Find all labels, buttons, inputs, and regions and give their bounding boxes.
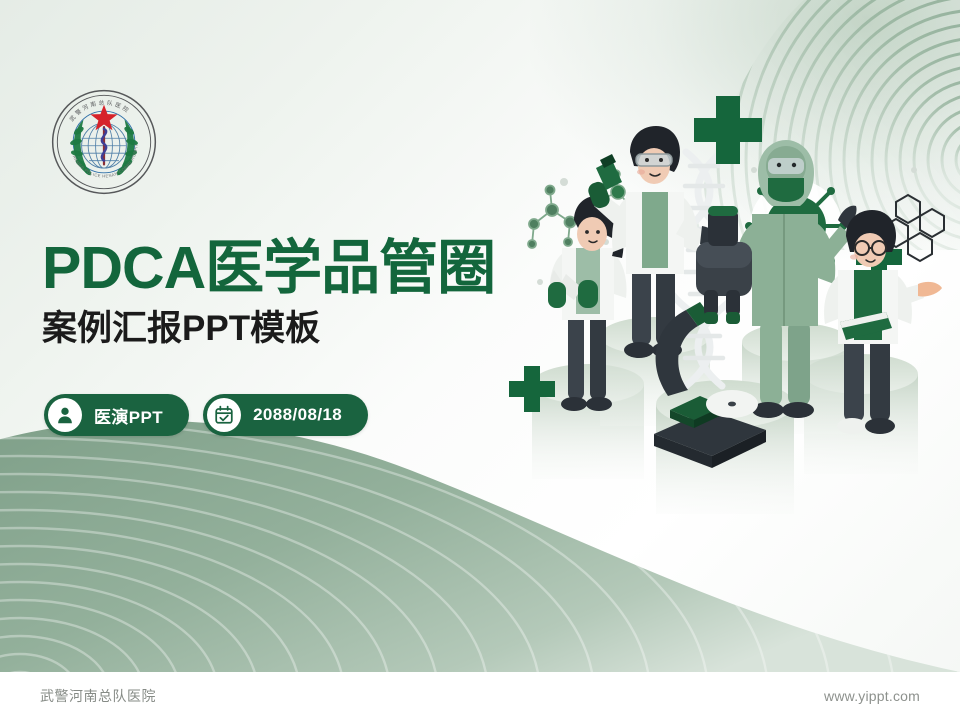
title-block: PDCA医学品管圈 案例汇报PPT模板	[42, 238, 562, 349]
meta-pill-group: 医演PPT 2088/08/18	[44, 394, 368, 436]
calendar-check-icon	[207, 398, 241, 432]
hospital-emblem-logo: 武警河南总队医院 ARMED POLICE HENAN CORPS HOSPIT…	[44, 86, 164, 198]
person-icon	[48, 398, 82, 432]
footer-organization: 武警河南总队医院	[40, 686, 156, 706]
safety-goggles-icon	[636, 154, 672, 166]
date-pill[interactable]: 2088/08/18	[203, 394, 368, 436]
author-label: 医演PPT	[94, 403, 163, 428]
page-subtitle: 案例汇报PPT模板	[42, 310, 562, 349]
date-label: 2088/08/18	[253, 405, 342, 425]
footer-website: www.yippt.com	[824, 688, 920, 704]
face-mask-icon	[768, 178, 804, 202]
presentation-slide: 武警河南总队医院 ARMED POLICE HENAN CORPS HOSPIT…	[0, 0, 960, 720]
medical-cross-large	[694, 96, 762, 164]
medical-research-team-illustration	[504, 74, 956, 524]
slide-footer: 武警河南总队医院 www.yippt.com	[0, 672, 960, 720]
author-pill[interactable]: 医演PPT	[44, 394, 189, 436]
page-title: PDCA医学品管圈	[42, 238, 562, 298]
